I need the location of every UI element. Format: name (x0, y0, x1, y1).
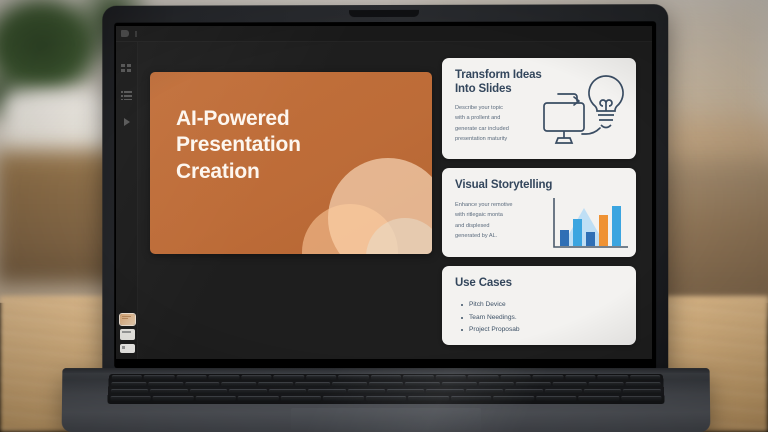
thumbnail-1-content (122, 316, 133, 319)
grid-layout-icon[interactable] (121, 64, 132, 73)
thumbnail-3-content (122, 346, 133, 349)
card-use-cases[interactable]: Use Cases Pitch Device Team Needings. Pr… (442, 266, 636, 345)
card-visual-storytelling[interactable]: Visual Storytelling Enhance your remotiv… (442, 168, 636, 257)
editor-canvas: AI-Powered Presentation Creation Transfo… (138, 42, 652, 359)
laptop-base (62, 368, 711, 432)
slide-thumbnail-1[interactable] (120, 314, 135, 325)
list-item: Team Needings. (461, 312, 624, 325)
card-2-title: Visual Storytelling (455, 179, 624, 193)
app-topbar (116, 26, 652, 42)
base-glare (62, 368, 711, 432)
app-body: AI-Powered Presentation Creation Transfo… (116, 42, 652, 359)
breadcrumb-chevron-icon (135, 31, 137, 37)
list-item: Project Proposab (461, 324, 624, 337)
card-1-body: Describe your topic with a prollent and … (455, 103, 539, 144)
webcam-notch (349, 10, 419, 17)
bar-chart-icon (548, 194, 630, 252)
slide-thumbnail-3[interactable] (120, 344, 135, 353)
left-sidebar (116, 42, 138, 359)
card-3-title: Use Cases (455, 277, 624, 291)
card-2-body: Enhance your remotive with ritlegaic mon… (455, 200, 539, 241)
play-present-icon[interactable] (124, 118, 130, 126)
card-1-title: Transform Ideas Into Slides (455, 69, 624, 96)
laptop-photo-scene: AI-Powered Presentation Creation Transfo… (0, 0, 768, 432)
content-cards-panel: Transform Ideas Into Slides Describe you… (442, 56, 636, 345)
thumbnail-2-content (122, 331, 133, 334)
list-outline-icon[interactable] (121, 91, 132, 100)
list-item: Pitch Device (461, 299, 624, 312)
slide-thumbnail-strip (116, 314, 138, 353)
slide-title: AI-Powered Presentation Creation (150, 72, 432, 185)
app-logo-icon[interactable] (121, 30, 129, 37)
app-window: AI-Powered Presentation Creation Transfo… (116, 26, 652, 359)
use-cases-list: Pitch Device Team Needings. Project Prop… (461, 299, 624, 338)
main-slide[interactable]: AI-Powered Presentation Creation (150, 72, 432, 254)
slide-thumbnail-2[interactable] (120, 329, 135, 340)
card-transform-ideas[interactable]: Transform Ideas Into Slides Describe you… (442, 58, 636, 159)
